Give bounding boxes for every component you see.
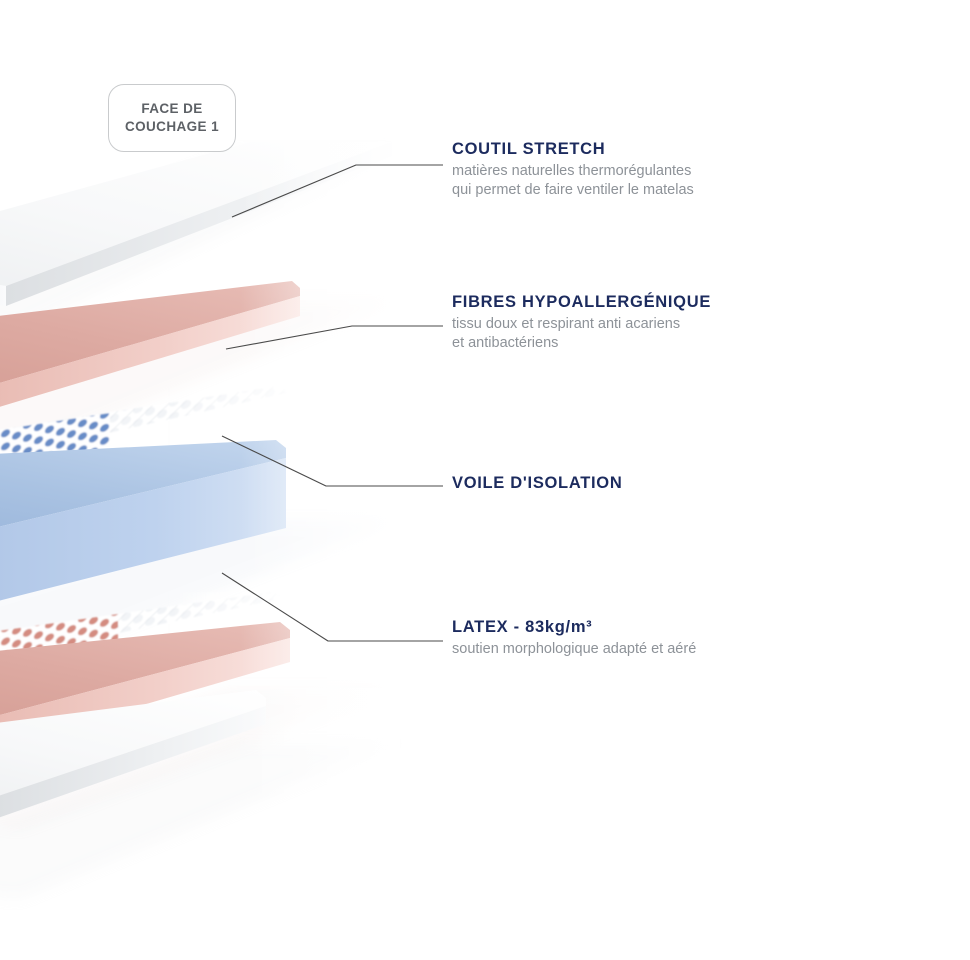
layer-coutil-stretch-bottom xyxy=(0,688,400,900)
mattress-layers-diagram: FACE DE COUCHAGE 1 COUTIL STRETCH matièr… xyxy=(0,0,970,960)
face-de-couchage-badge-label: FACE DE COUCHAGE 1 xyxy=(125,100,219,136)
face-de-couchage-badge: FACE DE COUCHAGE 1 xyxy=(108,84,236,152)
